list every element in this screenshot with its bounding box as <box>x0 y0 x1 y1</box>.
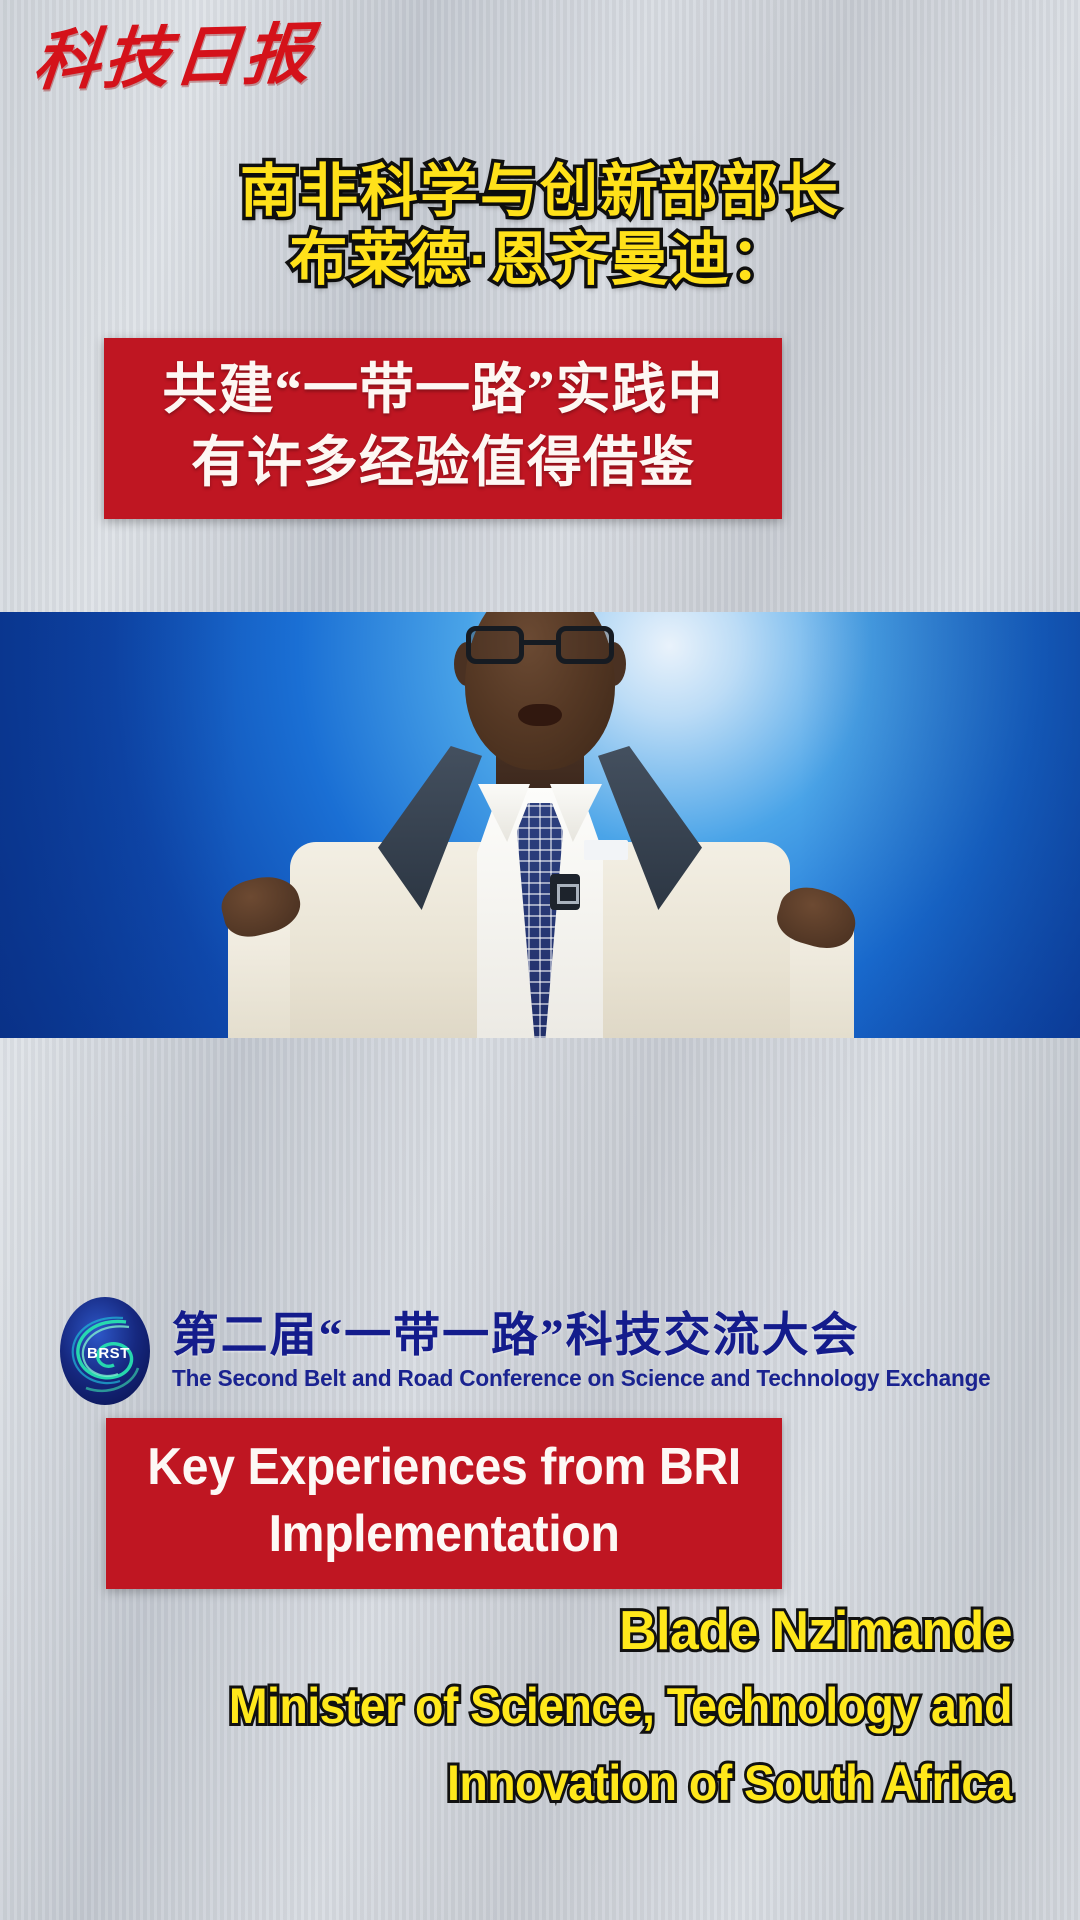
conference-title-block: 第二届“一带一路”科技交流大会 The Second Belt and Road… <box>172 1310 1025 1393</box>
speaker-credit: Blade Nzimande Minister of Science, Tech… <box>0 1600 1012 1816</box>
brst-logo-icon: BRST <box>56 1296 154 1406</box>
headline-line-1: 南非科学与创新部部长 <box>0 158 1080 226</box>
speaker-role-line-2: Innovation of South Africa <box>71 1751 1012 1816</box>
english-quote-banner: Key Experiences from BRI Implementation <box>106 1418 782 1589</box>
chinese-quote-line-2: 有许多经验值得借鉴 <box>114 427 772 500</box>
glasses-icon <box>466 626 614 666</box>
conference-title-cn: 第二届“一带一路”科技交流大会 <box>172 1310 1025 1363</box>
speaker-role-line-1: Minister of Science, Technology and <box>71 1674 1012 1739</box>
glasses-lens-right <box>556 626 614 664</box>
masthead-logo-text: 科技日报 <box>30 22 317 95</box>
glasses-bridge <box>524 640 556 645</box>
english-quote-line-1: Key Experiences from BRI <box>145 1434 744 1501</box>
speaker-mouth <box>518 704 562 726</box>
glasses-lens-left <box>466 626 524 664</box>
speaker-lapel-microphone <box>550 874 580 910</box>
speaker-pocket-card <box>584 840 628 860</box>
conference-identity: BRST 第二届“一带一路”科技交流大会 The Second Belt and… <box>0 1296 1080 1406</box>
headline-line-2: 布莱德·恩齐曼迪： <box>0 226 1080 294</box>
chinese-quote-line-1: 共建“一带一路”实践中 <box>114 354 772 427</box>
english-quote-line-2: Implementation <box>145 1501 744 1568</box>
speaker-name: Blade Nzimande <box>61 1600 1012 1662</box>
svg-text:BRST: BRST <box>87 1345 130 1362</box>
headline: 南非科学与创新部部长 布莱德·恩齐曼迪： <box>0 158 1080 295</box>
video-frame[interactable] <box>0 612 1080 1038</box>
chinese-quote-banner: 共建“一带一路”实践中 有许多经验值得借鉴 <box>104 338 782 519</box>
masthead-logo: 科技日报 <box>34 26 314 92</box>
conference-title-en: The Second Belt and Road Conference on S… <box>172 1365 991 1392</box>
